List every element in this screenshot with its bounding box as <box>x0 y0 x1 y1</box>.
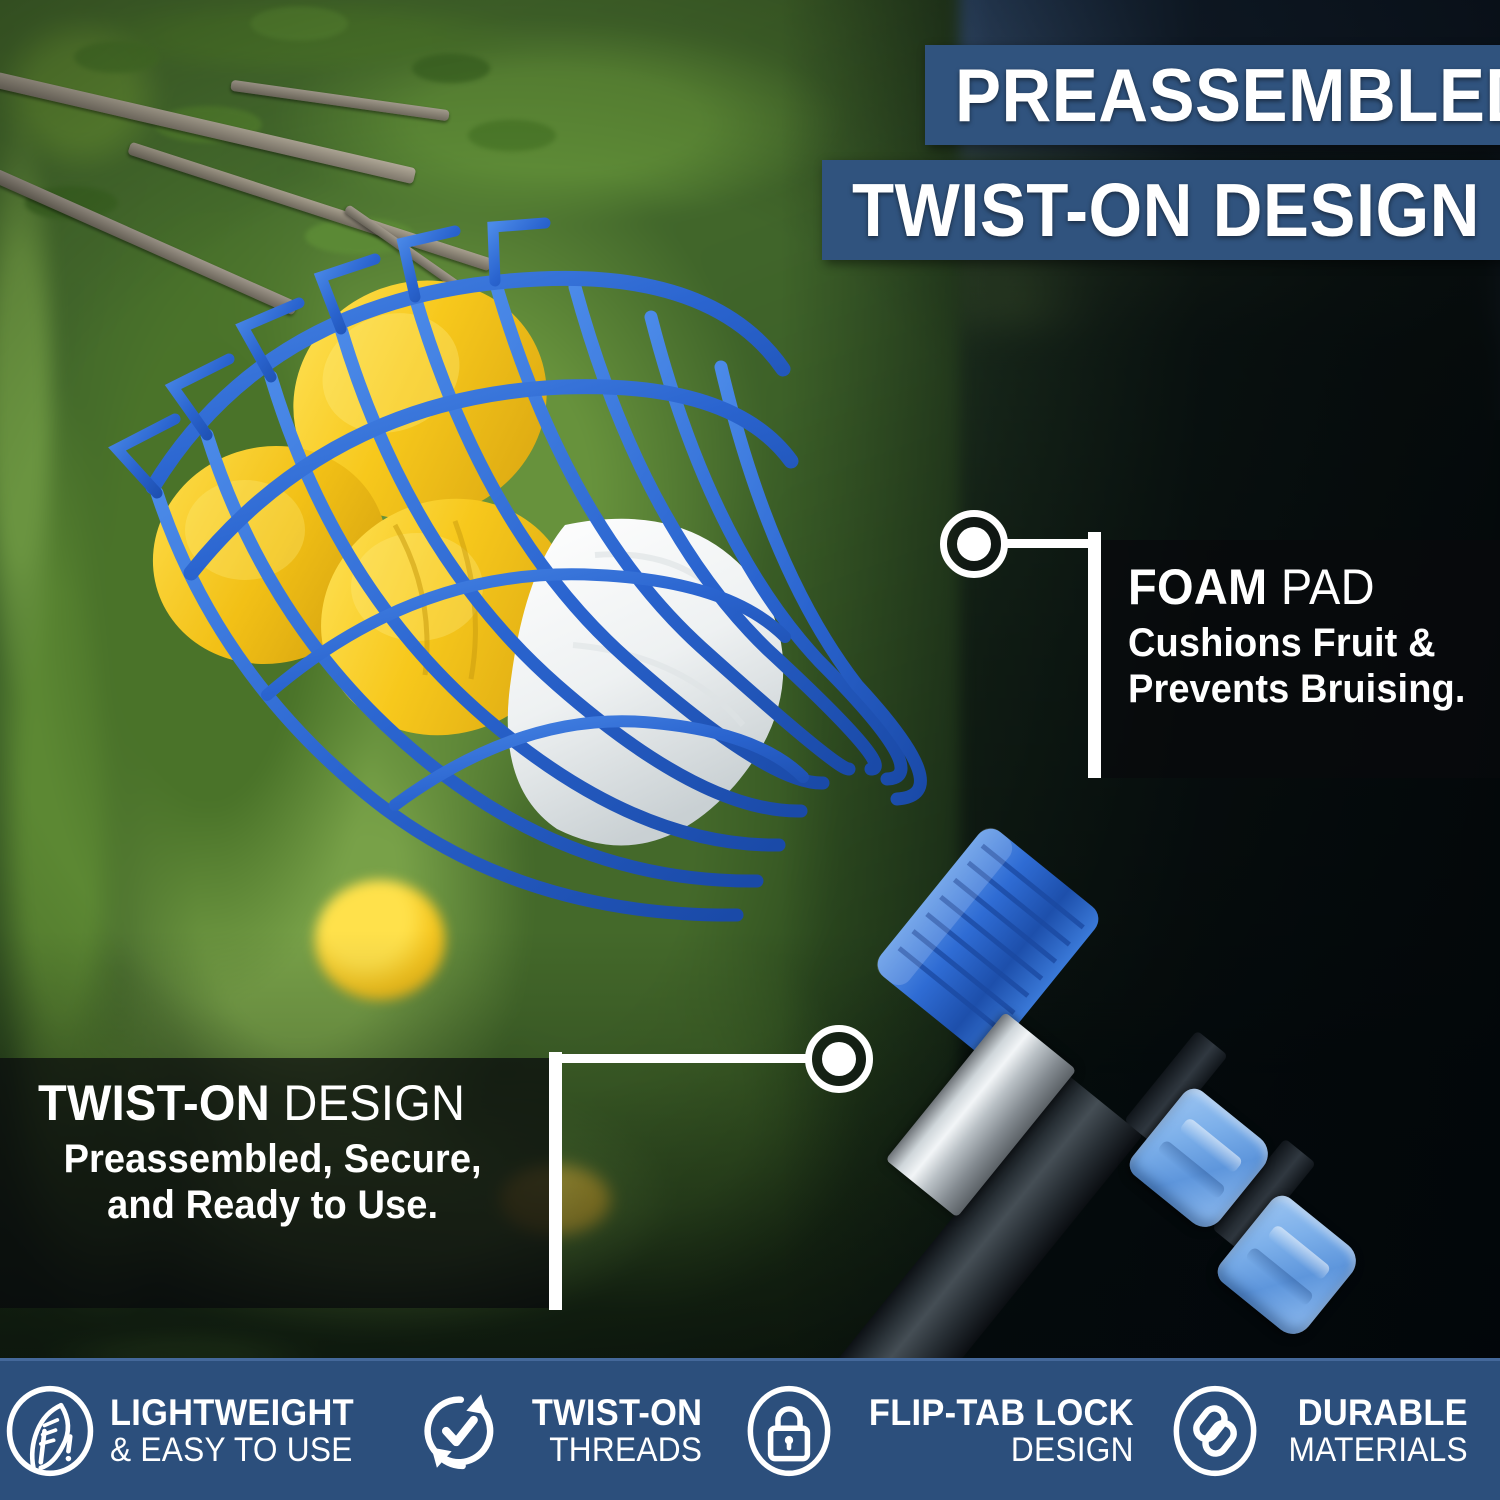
callout-title: FOAM PAD <box>1128 562 1463 613</box>
twist-arrows-check-icon <box>413 1385 505 1477</box>
feature-label-line1: TWIST-ON <box>532 1394 702 1431</box>
feature-label-line2: DESIGN <box>869 1433 1134 1467</box>
callout-title-strong: TWIST-ON <box>38 1075 270 1131</box>
callout-body-line2: Prevents Bruising. <box>1128 667 1466 713</box>
feature-label: TWIST-ON THREADS <box>519 1394 702 1467</box>
callout-leader-line <box>562 1054 810 1063</box>
callout-accent-bar <box>549 1052 562 1310</box>
callout-marker-icon <box>940 510 1008 578</box>
chain-link-icon <box>1169 1385 1261 1477</box>
feature-twist-on-threads: TWIST-ON THREADS <box>376 1385 738 1477</box>
feature-bar: LIGHTWEIGHT & EASY TO USE TWIST-ON THREA… <box>0 1358 1500 1500</box>
callout-marker-icon <box>805 1025 873 1093</box>
feature-label: LIGHTWEIGHT & EASY TO USE <box>110 1394 372 1467</box>
feature-lightweight: LIGHTWEIGHT & EASY TO USE <box>0 1385 376 1477</box>
callout-twist-on-design: TWIST-ON DESIGN Preassembled, Secure, an… <box>0 1058 562 1308</box>
callout-leader-line <box>1006 539 1096 548</box>
callout-title: TWIST-ON DESIGN <box>38 1078 502 1129</box>
headline-banner-line1: PREASSEMBLED <box>925 45 1500 145</box>
feature-label-line2: THREADS <box>532 1433 702 1467</box>
feather-icon <box>4 1385 96 1477</box>
marker-dot <box>822 1042 856 1076</box>
callout-foam-pad: FOAM PAD Cushions Fruit & Prevents Bruis… <box>1088 540 1500 778</box>
callout-title-light: DESIGN <box>270 1075 465 1131</box>
padlock-icon <box>743 1385 835 1477</box>
callout-accent-bar <box>1088 532 1101 778</box>
feature-durable-materials: DURABLE MATERIALS <box>1138 1385 1500 1477</box>
feature-label-line1: LIGHTWEIGHT <box>110 1394 354 1431</box>
callout-body-line2: and Ready to Use. <box>38 1183 507 1229</box>
feature-label-line2: & EASY TO USE <box>110 1433 354 1467</box>
feature-label: FLIP-TAB LOCK DESIGN <box>849 1394 1134 1467</box>
feature-label: DURABLE MATERIALS <box>1275 1394 1468 1467</box>
feature-label-line1: DURABLE <box>1289 1394 1468 1431</box>
feature-flip-tab-lock: FLIP-TAB LOCK DESIGN <box>739 1385 1138 1477</box>
headline-banner-line2: TWIST-ON DESIGN <box>822 160 1500 260</box>
callout-body-line1: Cushions Fruit & <box>1128 621 1466 667</box>
callout-title-strong: FOAM <box>1128 559 1268 615</box>
marker-dot <box>957 527 991 561</box>
feature-label-line1: FLIP-TAB LOCK <box>869 1394 1134 1431</box>
feature-label-line2: MATERIALS <box>1289 1433 1468 1467</box>
callout-title-light: PAD <box>1268 559 1375 615</box>
headline-text-line1: PREASSEMBLED <box>955 58 1500 133</box>
callout-body-line1: Preassembled, Secure, <box>38 1137 507 1183</box>
wire-basket <box>95 225 875 925</box>
product-infographic: PREASSEMBLED TWIST-ON DESIGN FOAM PAD Cu… <box>0 0 1500 1500</box>
headline-text-line2: TWIST-ON DESIGN <box>852 173 1480 248</box>
